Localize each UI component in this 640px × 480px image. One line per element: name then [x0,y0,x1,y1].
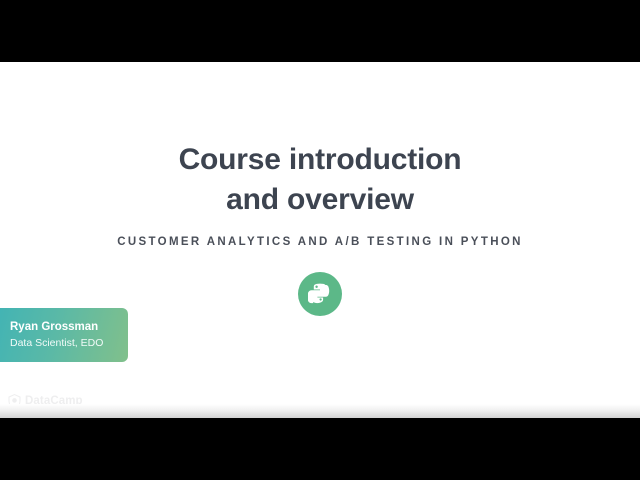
presenter-name-card: Ryan Grossman Data Scientist, EDO [0,308,128,362]
python-badge [298,272,342,316]
page-title: Course introduction and overview [0,140,640,220]
letterbox-bar-top [0,0,640,62]
presenter-name: Ryan Grossman [10,320,118,336]
video-player-frame: Course introduction and overview CUSTOME… [0,0,640,480]
slide-bottom-shadow [0,404,640,418]
letterbox-bar-bottom [0,418,640,480]
presenter-role: Data Scientist, EDO [10,336,118,350]
python-logo-icon [308,282,332,306]
slide-title-block: Course introduction and overview CUSTOME… [0,140,640,248]
slide-subtitle: CUSTOMER ANALYTICS AND A/B TESTING IN PY… [0,236,640,248]
presentation-slide: Course introduction and overview CUSTOME… [0,62,640,418]
